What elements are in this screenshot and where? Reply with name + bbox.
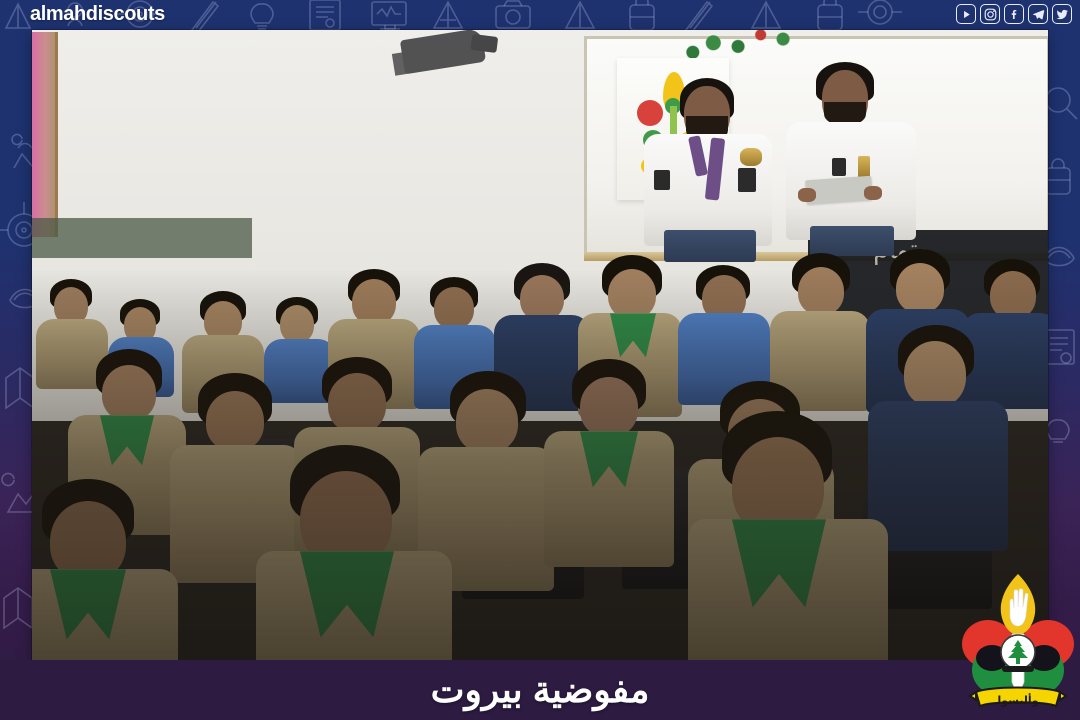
decorative-frame: almahdiscouts bbox=[0, 0, 1080, 720]
instagram-icon[interactable] bbox=[980, 4, 1000, 24]
wall-pink-frame bbox=[32, 32, 58, 237]
youtube-icon[interactable] bbox=[956, 4, 976, 24]
wall-green-board bbox=[32, 218, 252, 258]
telegram-icon[interactable] bbox=[1028, 4, 1048, 24]
facebook-icon[interactable] bbox=[1004, 4, 1024, 24]
audience bbox=[32, 269, 1048, 660]
event-photo: وتمام bbox=[32, 30, 1048, 660]
social-links[interactable] bbox=[956, 4, 1072, 24]
bottom-banner: مفوضية بيروت bbox=[0, 660, 1080, 720]
twitter-icon[interactable] bbox=[1052, 4, 1072, 24]
brand-name: almahdiscouts bbox=[30, 3, 165, 26]
logo-scroll-text: وألبسوا bbox=[997, 693, 1038, 707]
held-paper bbox=[805, 176, 873, 205]
audience-shading bbox=[32, 269, 1048, 660]
photo-scene: وتمام bbox=[32, 30, 1048, 660]
top-banner: almahdiscouts bbox=[0, 0, 1080, 30]
commission-title: مفوضية بيروت bbox=[0, 669, 1080, 711]
al-mahdi-scouts-logo: وألبسوا bbox=[962, 566, 1074, 716]
